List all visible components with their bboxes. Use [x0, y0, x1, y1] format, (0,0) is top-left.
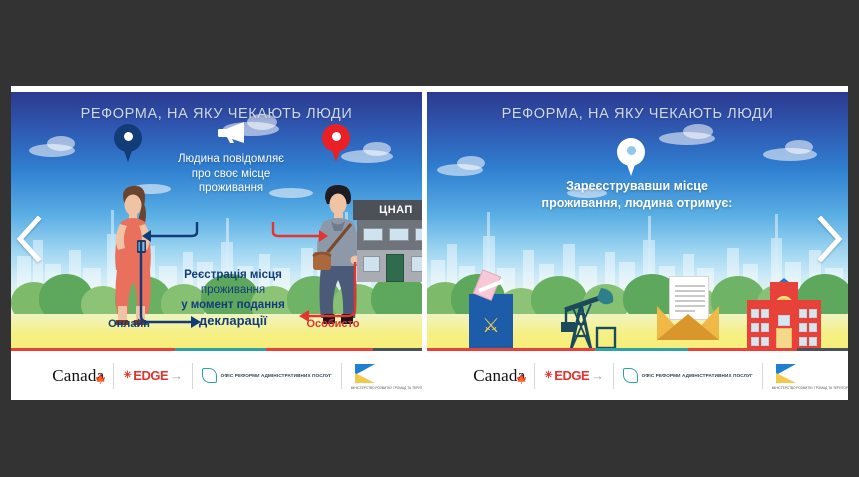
- canada-wordmark: Canada 🍁: [43, 363, 113, 389]
- chevron-left-icon: [14, 216, 44, 262]
- slide1-artwork: РЕФОРМА, НА ЯКУ ЧЕКАЮТЬ ЛЮДИ Людина пові…: [11, 92, 422, 348]
- megaphone-icon: [214, 120, 248, 142]
- orats-mark-icon: [202, 368, 217, 383]
- slide2-title: РЕФОРМА, НА ЯКУ ЧЕКАЮТЬ ЛЮДИ: [427, 106, 848, 122]
- arrow-to-woman: [139, 218, 201, 242]
- benefit-voting: ⚔ Зручний доступдо голосуванняза місцем …: [443, 272, 539, 348]
- logo-bar-right: Canada 🍁 ✳ EDGE → ОФІС РЕФОРМИ АДМІ: [427, 348, 848, 400]
- cnap-sign: ЦНАП: [353, 200, 422, 220]
- benefit-correspondence: Гарантованудоставкуофіційноїкореспонденц…: [639, 272, 735, 348]
- edge-logo-icon: ✳ EDGE →: [534, 363, 612, 389]
- slide-registration-process[interactable]: РЕФОРМА, НА ЯКУ ЧЕКАЮТЬ ЛЮДИ Людина пові…: [11, 92, 422, 400]
- benefit-school: Першочергове зарахуваннядитини до заклад…: [735, 272, 831, 348]
- map-pin-white-icon: [617, 138, 645, 176]
- ukraine-flag-logo-icon: МІНІСТЕРСТВО РОЗВИТКУ ГРОМАД ТА ТЕРИТОРІ…: [762, 363, 811, 389]
- result-line-4: декларації: [153, 313, 313, 330]
- callout-line-1: Людина повідомляє: [151, 152, 311, 167]
- edge-logo-icon: ✳ EDGE →: [113, 363, 191, 389]
- callout-line-2: про своє місце: [151, 167, 311, 182]
- edge-asterisk-icon: ✳: [123, 370, 131, 381]
- carousel-prev-button[interactable]: [14, 216, 44, 262]
- canada-flag-icon: 🍁: [516, 374, 527, 385]
- result-line-1: Реєстрація місця: [153, 268, 313, 283]
- ua-logo-caption: МІНІСТЕРСТВО РОЗВИТКУ ГРОМАД ТА ТЕРИТОРІ…: [351, 386, 422, 390]
- school-building-icon: [735, 272, 831, 348]
- chevron-right-icon: [815, 216, 845, 262]
- edge-dash-icon: →: [170, 368, 183, 383]
- orats-mark-icon: [623, 368, 638, 383]
- label-online: Онлайн: [89, 318, 169, 330]
- edge-label: EDGE: [133, 368, 168, 383]
- orats-label: ОФІС РЕФОРМИ АДМІНІСТРАТИВНИХ ПОСЛУГ: [642, 373, 753, 378]
- edge-dash-icon: →: [591, 368, 604, 383]
- slide1-callout: Людина повідомляє про своє місце прожива…: [151, 152, 311, 196]
- edge-asterisk-icon: ✳: [544, 370, 552, 381]
- slide-benefits[interactable]: РЕФОРМА, НА ЯКУ ЧЕКАЮТЬ ЛЮДИ Зареєструва…: [427, 92, 848, 400]
- cnap-building-illustration: ЦНАП: [353, 200, 422, 284]
- orats-label: ОФІС РЕФОРМИ АДМІНІСТРАТИВНИХ ПОСЛУГ: [221, 373, 332, 378]
- benefit-influence: Впливна рішеннятериторіальноїгромади: [543, 272, 639, 348]
- logo-bar-left: Canada 🍁 ✳ EDGE → ОФІС РЕФОРМИ АДМІ: [11, 348, 422, 400]
- heading-line-2: проживання, людина отримує:: [487, 195, 787, 212]
- canada-flag-icon: 🍁: [95, 374, 106, 385]
- orats-logo: ОФІС РЕФОРМИ АДМІНІСТРАТИВНИХ ПОСЛУГ: [192, 363, 341, 389]
- oil-pumpjack-icon: [543, 272, 639, 348]
- ukraine-flag-logo-icon: МІНІСТЕРСТВО РОЗВИТКУ ГРОМАД ТА ТЕРИТОРІ…: [341, 363, 390, 389]
- orats-logo: ОФІС РЕФОРМИ АДМІНІСТРАТИВНИХ ПОСЛУГ: [613, 363, 762, 389]
- callout-line-3: проживання: [151, 181, 311, 196]
- envelope-letter-icon: [639, 272, 735, 348]
- map-pin-red-icon: [322, 124, 350, 162]
- slide1-result: Реєстрація місця проживання у момент под…: [153, 268, 313, 330]
- edge-label: EDGE: [554, 368, 589, 383]
- label-in-person: Особисто: [293, 318, 373, 330]
- result-bold-1: Реєстрація місця: [184, 269, 282, 281]
- carousel-root: РЕФОРМА, НА ЯКУ ЧЕКАЮТЬ ЛЮДИ Людина пові…: [0, 0, 859, 477]
- map-pin-navy-icon: [114, 124, 142, 162]
- result-line-3: у момент подання: [153, 298, 313, 313]
- slide2-heading: Зареєструвавши місце проживання, людина …: [487, 178, 787, 212]
- result-line-2: проживання: [153, 283, 313, 298]
- heading-line-1: Зареєструвавши місце: [487, 178, 787, 195]
- arrow-to-man: [269, 218, 331, 242]
- carousel-next-button[interactable]: [815, 216, 845, 262]
- canada-wordmark: Canada 🍁: [464, 363, 534, 389]
- slide2-artwork: РЕФОРМА, НА ЯКУ ЧЕКАЮТЬ ЛЮДИ Зареєструва…: [427, 92, 848, 348]
- ua-logo-caption: МІНІСТЕРСТВО РОЗВИТКУ ГРОМАД ТА ТЕРИТОРІ…: [772, 386, 848, 390]
- ballot-box-icon: ⚔: [443, 272, 539, 348]
